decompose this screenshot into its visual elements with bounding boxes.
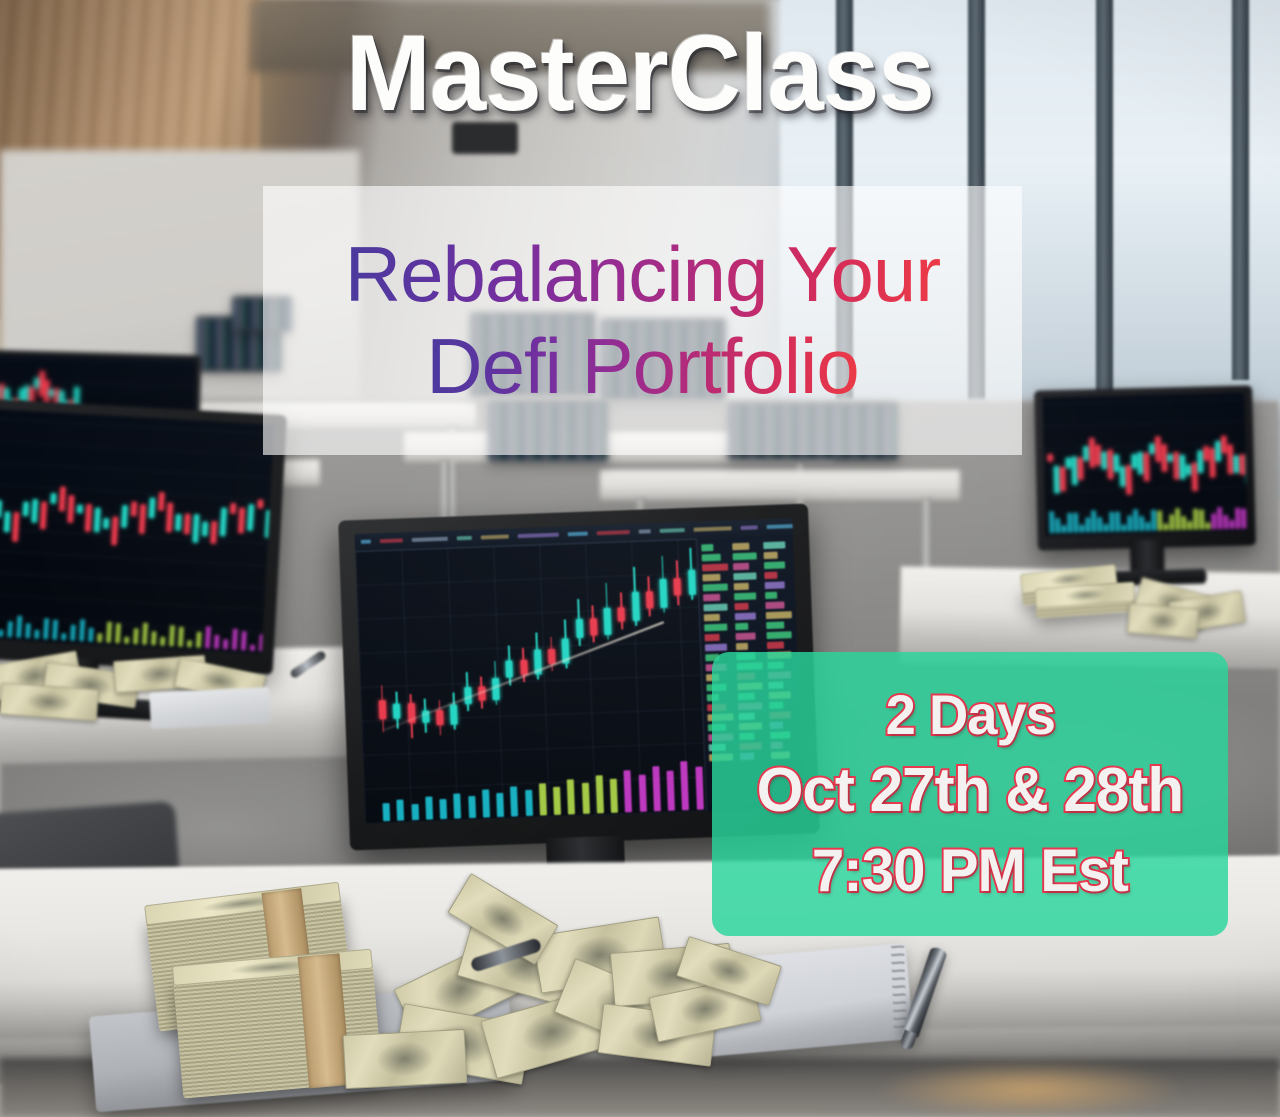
mini-volume-bar xyxy=(97,633,102,642)
volume-bar xyxy=(468,796,476,818)
mini-volume-bar xyxy=(214,635,220,649)
mini-volume-bar xyxy=(232,629,238,650)
mini-candle xyxy=(13,512,20,541)
candle-body xyxy=(506,660,514,677)
mini-candle xyxy=(238,507,244,532)
mini-volume-bar xyxy=(1169,514,1174,530)
mini-volume-bar xyxy=(1055,518,1060,533)
mini-volume-bar xyxy=(151,631,157,645)
mini-volume-bar xyxy=(115,623,121,643)
mini-candle xyxy=(51,493,57,504)
mini-candle xyxy=(68,495,74,522)
mini-volume-bar xyxy=(1067,513,1072,533)
mini-volume-bar xyxy=(1115,512,1120,532)
mini-candle xyxy=(220,508,227,536)
ticker-cell xyxy=(701,544,713,551)
mini-volume-bar xyxy=(1061,525,1066,533)
mini-candle xyxy=(1221,436,1226,453)
toolbar-tick xyxy=(767,524,797,529)
mini-volume-bar xyxy=(1145,522,1150,531)
volume-bar xyxy=(652,766,661,811)
mini-volume-bar xyxy=(124,637,129,644)
mini-volume-bar xyxy=(133,628,139,644)
volume-bar xyxy=(425,796,433,819)
mini-volume-bar xyxy=(1097,517,1102,532)
mini-volume-bar xyxy=(106,622,112,643)
candle-body xyxy=(492,678,500,700)
mini-candle xyxy=(77,505,82,512)
volume-bar xyxy=(680,762,689,811)
volume-bar xyxy=(610,779,618,813)
trend-line xyxy=(383,621,664,731)
toolbar-tick xyxy=(639,529,651,533)
mini-candle xyxy=(1126,465,1132,494)
candle-body xyxy=(618,607,626,622)
candle-body xyxy=(450,704,458,724)
ticker-cell xyxy=(702,574,720,582)
mini-candle xyxy=(166,503,173,532)
mini-volume-bar xyxy=(1181,516,1186,531)
mini-candle xyxy=(4,512,10,532)
mini-candle xyxy=(1066,458,1071,469)
ticker-cell xyxy=(764,572,777,579)
brand-title: MasterClass xyxy=(38,18,1241,128)
ticker-cell xyxy=(702,554,721,562)
mini-candle xyxy=(1186,464,1191,475)
left-trading-monitor xyxy=(0,393,287,675)
mini-volume-bar xyxy=(52,620,58,640)
mini-volume-bar xyxy=(1175,508,1181,530)
volume-bar xyxy=(638,775,646,812)
promotional-poster: MasterClass Rebalancing Your Defi Portfo… xyxy=(0,0,1280,1117)
toolbar-tick xyxy=(412,537,448,542)
mini-volume-bar xyxy=(1121,524,1126,532)
mini-volume-bar xyxy=(1109,511,1114,532)
background-scene xyxy=(0,0,1280,1117)
mini-candle xyxy=(1120,466,1125,486)
mini-volume-bar xyxy=(1199,510,1204,530)
mini-candle xyxy=(1060,467,1066,492)
toolbar-tick xyxy=(694,526,732,531)
mini-candle xyxy=(158,493,164,510)
candle-body xyxy=(674,578,682,595)
toolbar-tick xyxy=(597,530,630,535)
mini-volume-bar xyxy=(187,641,192,648)
ticker-cell xyxy=(732,543,749,551)
mini-candle xyxy=(1138,452,1144,475)
mini-volume-bar xyxy=(1193,509,1199,530)
mini-volume-bar xyxy=(16,616,22,638)
mini-candle xyxy=(1048,454,1053,461)
mini-volume-bar xyxy=(7,621,13,637)
ticker-cell xyxy=(705,644,727,652)
mini-volume-bar xyxy=(241,631,247,651)
warm-light-glow xyxy=(880,1062,1180,1117)
ticker-cell xyxy=(733,552,757,560)
ticker-cell xyxy=(704,614,720,622)
mini-candle xyxy=(23,502,29,516)
mini-candle xyxy=(139,504,146,533)
candle-body xyxy=(646,591,654,608)
ticker-cell xyxy=(703,583,728,591)
background-desk xyxy=(600,470,960,500)
volume-bar xyxy=(567,779,575,814)
mini-candle xyxy=(1174,452,1180,479)
mini-candle xyxy=(1078,457,1084,480)
mini-candle xyxy=(175,514,181,531)
mini-candle xyxy=(1198,450,1204,472)
mini-volume-bar xyxy=(1211,513,1216,529)
volume-bar xyxy=(397,799,405,821)
headline-line-2: Defi Portfolio xyxy=(426,323,859,410)
mini-volume-bar xyxy=(1127,516,1132,532)
mini-volume-bar xyxy=(79,619,85,641)
mini-candle xyxy=(121,505,127,528)
mini-volume-bar xyxy=(34,630,39,639)
mini-candle xyxy=(1234,456,1239,473)
mini-volume-bar xyxy=(61,633,66,640)
candle-body xyxy=(393,704,401,719)
notebook-spiral xyxy=(891,946,907,1034)
mini-volume-bar xyxy=(160,636,166,646)
ticker-cell xyxy=(766,631,791,639)
mini-volume-bar xyxy=(88,627,94,642)
ticker-cell xyxy=(767,641,784,649)
mini-volume-bar xyxy=(1223,515,1228,529)
ticker-cell xyxy=(735,623,748,630)
schedule-duration: 2 Days xyxy=(885,679,1054,750)
schedule-dates: Oct 27th & 28th xyxy=(757,752,1184,831)
volume-bar xyxy=(581,783,589,814)
mini-candle xyxy=(40,501,47,529)
candle-body xyxy=(688,570,696,595)
monitor-screen xyxy=(1042,393,1247,537)
mini-candle xyxy=(59,486,65,511)
candle-body xyxy=(436,710,444,725)
right-trading-monitor xyxy=(1034,385,1256,550)
mini-volume-bar xyxy=(1151,510,1156,531)
toolbar-tick xyxy=(457,536,472,541)
mini-candle xyxy=(1155,436,1161,461)
mini-candle xyxy=(131,501,137,515)
candle-body xyxy=(603,608,611,635)
mini-volume-bar xyxy=(1139,516,1144,531)
mini-candle xyxy=(1210,448,1216,477)
schedule-time: 7:30 PM Est xyxy=(812,833,1128,909)
mini-candle xyxy=(211,521,217,544)
mini-candle xyxy=(1054,467,1060,494)
volume-bar xyxy=(624,770,633,812)
volume-bar xyxy=(453,794,461,819)
mini-candle xyxy=(193,514,200,543)
ticker-cell xyxy=(734,583,749,591)
toolbar-tick xyxy=(741,525,758,530)
mini-candle xyxy=(94,507,100,532)
mini-candle xyxy=(1180,455,1186,480)
mini-candle xyxy=(1114,455,1119,472)
mini-candle xyxy=(1108,450,1114,479)
ticker-cell xyxy=(763,541,785,549)
ticker-cell xyxy=(766,611,792,619)
mini-volume-bar xyxy=(223,640,229,650)
toolbar-tick xyxy=(518,533,559,538)
headline-panel: Rebalancing Your Defi Portfolio xyxy=(263,186,1022,455)
mini-candle xyxy=(32,500,38,523)
mini-candle xyxy=(1102,452,1107,469)
mini-volume-bar xyxy=(1187,521,1192,530)
mini-volume-bar xyxy=(169,625,175,646)
mini-candle xyxy=(184,514,190,534)
volume-bar xyxy=(496,793,504,817)
ticker-cell xyxy=(734,603,748,611)
cash-band xyxy=(298,953,351,1088)
ticker-cell xyxy=(736,633,756,641)
ticker-cell xyxy=(702,563,728,571)
toolbar-tick xyxy=(481,534,509,539)
mini-candle xyxy=(149,498,155,518)
ticker-cell xyxy=(765,592,777,599)
ticker-cell xyxy=(766,621,784,629)
mini-candle xyxy=(1132,454,1137,468)
mini-volume-bar xyxy=(1217,507,1223,529)
mini-volume-bar xyxy=(43,619,49,640)
mini-candle xyxy=(1083,446,1088,460)
mini-volume-bar xyxy=(1205,523,1210,530)
ticker-cell xyxy=(735,612,756,620)
mini-candle xyxy=(1149,443,1154,453)
volume-bar xyxy=(666,771,674,811)
mini-candle xyxy=(1192,463,1198,491)
mini-volume-bar xyxy=(250,644,255,651)
mini-candle xyxy=(202,522,208,536)
mini-candle xyxy=(1168,454,1173,461)
mini-volume-bar xyxy=(142,623,148,645)
mini-candle xyxy=(111,517,118,545)
candle-body xyxy=(575,618,583,638)
ticker-cell xyxy=(765,601,784,609)
ticker-cell xyxy=(733,572,756,580)
mini-candle xyxy=(1227,445,1233,474)
mini-candle xyxy=(1215,442,1220,462)
candle-body xyxy=(590,618,598,635)
volume-bar xyxy=(525,789,533,816)
mini-volume-bar xyxy=(1073,513,1078,533)
candle-body xyxy=(548,649,556,664)
mini-candle xyxy=(1161,445,1167,472)
volume-bar xyxy=(382,803,390,821)
candle-body xyxy=(659,578,667,608)
ticker-cell xyxy=(703,594,720,602)
mini-volume-bar xyxy=(1163,523,1168,530)
toolbar-tick xyxy=(660,528,685,533)
volume-bar xyxy=(695,766,704,810)
mini-volume-bar xyxy=(1079,525,1084,533)
mini-candle xyxy=(1203,446,1208,460)
ticker-cell xyxy=(734,592,756,600)
ticker-cell xyxy=(765,581,785,589)
ticker-cell xyxy=(764,561,785,569)
loose-bill xyxy=(343,1029,468,1089)
right-monitor-chart xyxy=(1042,393,1247,537)
toolbar-tick xyxy=(568,532,588,537)
mini-volume-bar xyxy=(1049,511,1055,533)
mini-candle xyxy=(258,500,263,508)
ticker-cell xyxy=(764,552,778,560)
mini-volume-bar xyxy=(1085,517,1090,533)
mini-candle xyxy=(103,518,109,529)
ticker-cell xyxy=(736,643,748,650)
mini-volume-bar xyxy=(178,627,184,647)
mini-volume-bar xyxy=(1133,509,1139,531)
volume-bar xyxy=(539,784,547,816)
mini-volume-bar xyxy=(70,625,76,641)
mini-candle xyxy=(247,504,253,531)
mini-candle xyxy=(230,503,236,513)
monitor-screen xyxy=(0,404,274,655)
volume-bar xyxy=(482,789,490,817)
ticker-cell xyxy=(703,604,727,612)
volume-bar xyxy=(411,804,419,820)
mini-volume-bar xyxy=(1091,510,1097,532)
headline-line-1: Rebalancing Your xyxy=(345,231,941,318)
volume-bar xyxy=(510,786,518,816)
volume-bar xyxy=(553,787,561,815)
ticker-cell xyxy=(733,563,749,571)
toolbar-tick xyxy=(380,538,403,543)
mini-volume-bar xyxy=(1229,520,1234,529)
loose-bill xyxy=(0,683,99,722)
mini-candle xyxy=(1144,453,1150,481)
candle-body xyxy=(631,592,639,622)
mini-candle xyxy=(1095,445,1100,465)
mini-volume-bar xyxy=(0,629,4,637)
volume-bar xyxy=(439,799,447,819)
mini-candle xyxy=(85,504,91,531)
mini-candle xyxy=(1089,438,1095,467)
ticker-cell xyxy=(705,634,720,642)
mini-volume-bar xyxy=(1235,508,1241,529)
mini-volume-bar xyxy=(196,631,202,648)
volume-bar xyxy=(595,775,603,814)
mini-volume-bar xyxy=(205,626,211,648)
toolbar-tick xyxy=(361,540,371,544)
mini-volume-bar xyxy=(25,623,31,638)
loose-bill xyxy=(1127,603,1199,639)
mini-volume-bar xyxy=(1103,524,1108,532)
mini-candle xyxy=(0,500,2,517)
candle-body xyxy=(379,700,387,720)
ticker-cell xyxy=(704,624,727,632)
mini-candle xyxy=(1240,454,1245,474)
left-monitor-chart xyxy=(0,404,274,655)
candle-body xyxy=(520,660,528,675)
background-notepad xyxy=(149,687,271,729)
mini-volume-bar xyxy=(1157,511,1162,531)
schedule-box: 2 Days Oct 27th & 28th 7:30 PM Est xyxy=(712,652,1228,936)
mini-volume-bar xyxy=(1241,509,1246,529)
mini-candle xyxy=(1072,457,1078,485)
